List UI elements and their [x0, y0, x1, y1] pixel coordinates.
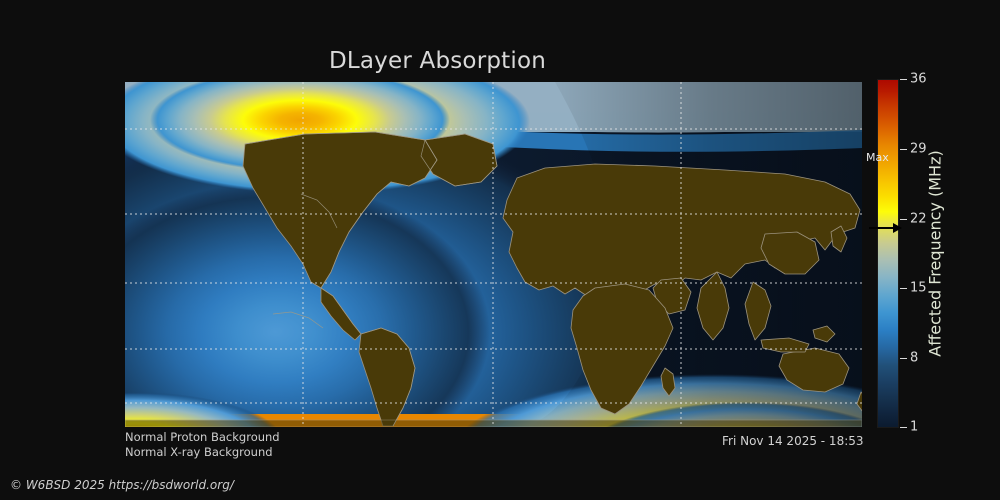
credit-line: © W6BSD 2025 https://bsdworld.org/ [10, 478, 234, 492]
colorbar-tick-1 [900, 427, 907, 428]
xray-background-note: Normal X-ray Background [125, 445, 273, 459]
colorbar-tick-36 [900, 79, 907, 80]
map-canvas [125, 82, 862, 427]
absorption-map[interactable] [125, 82, 862, 427]
colorbar-label-1: 1 [910, 420, 918, 435]
max-marker-arrow-icon [869, 227, 903, 229]
colorbar[interactable] [877, 79, 899, 428]
colorbar-tick-22 [900, 219, 907, 220]
colorbar-label-8: 8 [910, 351, 918, 366]
colorbar-axis-label: Affected Frequency (MHz) [920, 79, 950, 428]
proton-background-note: Normal Proton Background [125, 430, 280, 444]
colorbar-tick-15 [900, 288, 907, 289]
timestamp-label: Fri Nov 14 2025 - 18:53 [722, 434, 864, 448]
dlayer-absorption-page: DLayer Absorption [0, 0, 1000, 500]
colorbar-tick-29 [900, 149, 907, 150]
colorbar-tick-8 [900, 358, 907, 359]
colorbar-axis-label-text: Affected Frequency (MHz) [926, 150, 945, 356]
max-marker-label: Max [866, 151, 889, 164]
page-title: DLayer Absorption [0, 48, 875, 74]
colorbar-gradient [877, 79, 899, 428]
